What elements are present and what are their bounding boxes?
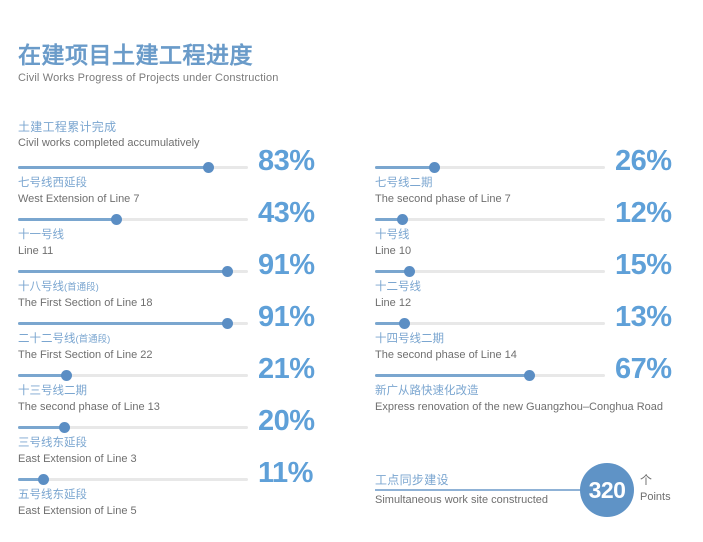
progress-knob[interactable] bbox=[61, 370, 72, 381]
progress-label-cn: 十号线 bbox=[375, 228, 695, 243]
page-title-cn: 在建项目土建工程进度 bbox=[18, 42, 618, 68]
progress-label-cn: 十一号线 bbox=[18, 228, 338, 243]
progress-fill bbox=[18, 426, 64, 429]
progress-slider[interactable] bbox=[375, 266, 605, 278]
progress-percent-value: 26% bbox=[615, 147, 703, 176]
progress-knob[interactable] bbox=[38, 474, 49, 485]
progress-knob[interactable] bbox=[203, 162, 214, 173]
progress-row: 11%五号线东延段East Extension of Line 5 bbox=[18, 470, 348, 522]
points-value: 320 bbox=[589, 479, 626, 502]
progress-percent-value: 67% bbox=[615, 355, 703, 384]
points-label-cn: 工点同步建设 bbox=[375, 471, 449, 488]
progress-percent-value: 20% bbox=[258, 407, 348, 436]
progress-column-left: 83%七号线西延段West Extension of Line 743%十一号线… bbox=[18, 158, 348, 522]
progress-knob[interactable] bbox=[429, 162, 440, 173]
progress-fill bbox=[18, 270, 227, 273]
progress-knob[interactable] bbox=[222, 266, 233, 277]
progress-knob[interactable] bbox=[111, 214, 122, 225]
progress-knob[interactable] bbox=[524, 370, 535, 381]
progress-slider[interactable] bbox=[18, 370, 248, 382]
progress-percent-value: 83% bbox=[258, 147, 348, 176]
progress-percent-value: 15% bbox=[615, 251, 703, 280]
progress-label-cn: 七号线二期 bbox=[375, 176, 695, 191]
progress-fill bbox=[18, 166, 209, 169]
progress-knob[interactable] bbox=[404, 266, 415, 277]
progress-label-cn: 五号线东延段 bbox=[18, 488, 338, 503]
progress-label-cn: 三号线东延段 bbox=[18, 436, 338, 451]
page-title-en: Civil Works Progress of Projects under C… bbox=[18, 72, 618, 84]
progress-percent-value: 91% bbox=[258, 303, 348, 332]
progress-percent-value: 12% bbox=[615, 199, 703, 228]
progress-slider[interactable] bbox=[375, 370, 605, 382]
progress-row: 67%新广从路快速化改造Express renovation of the ne… bbox=[375, 366, 703, 418]
page-header: 在建项目土建工程进度 Civil Works Progress of Proje… bbox=[18, 42, 618, 84]
points-summary: 工点同步建设 Simultaneous work site constructe… bbox=[375, 463, 685, 533]
progress-label-cn: 二十二号线(首通段) bbox=[18, 332, 338, 347]
section-heading-cn: 土建工程累计完成 bbox=[18, 120, 348, 135]
progress-percent-value: 11% bbox=[258, 459, 348, 488]
progress-label-cn-paren: (首通段) bbox=[64, 282, 99, 293]
progress-fill bbox=[18, 322, 227, 325]
progress-slider[interactable] bbox=[18, 422, 248, 434]
progress-labels: 新广从路快速化改造Express renovation of the new G… bbox=[375, 384, 695, 414]
progress-label-cn: 十四号线二期 bbox=[375, 332, 695, 347]
progress-label-en: Express renovation of the new Guangzhou–… bbox=[375, 400, 695, 414]
progress-label-cn: 十八号线(首通段) bbox=[18, 280, 338, 295]
progress-slider[interactable] bbox=[18, 474, 248, 486]
progress-label-cn: 七号线西延段 bbox=[18, 176, 338, 191]
progress-percent-value: 43% bbox=[258, 199, 348, 228]
progress-slider[interactable] bbox=[18, 266, 248, 278]
points-badge: 320 bbox=[580, 463, 634, 517]
progress-slider[interactable] bbox=[375, 214, 605, 226]
progress-fill bbox=[375, 374, 529, 377]
progress-percent-value: 91% bbox=[258, 251, 348, 280]
progress-slider[interactable] bbox=[18, 162, 248, 174]
progress-slider[interactable] bbox=[18, 214, 248, 226]
progress-fill bbox=[18, 218, 117, 221]
progress-knob[interactable] bbox=[222, 318, 233, 329]
progress-slider[interactable] bbox=[375, 318, 605, 330]
progress-column-right: 26%七号线二期The second phase of Line 712%十号线… bbox=[375, 158, 703, 418]
points-label-en: Simultaneous work site constructed bbox=[375, 494, 548, 506]
progress-label-cn: 十二号线 bbox=[375, 280, 695, 295]
progress-label-cn: 新广从路快速化改造 bbox=[375, 384, 695, 399]
points-unit-en: Points bbox=[640, 491, 671, 504]
progress-label-en: East Extension of Line 5 bbox=[18, 504, 338, 518]
progress-slider[interactable] bbox=[18, 318, 248, 330]
progress-label-cn: 十三号线二期 bbox=[18, 384, 338, 399]
progress-label-cn-paren: (首通段) bbox=[76, 334, 111, 345]
progress-knob[interactable] bbox=[397, 214, 408, 225]
points-unit-cn: 个 bbox=[640, 473, 652, 487]
progress-percent-value: 13% bbox=[615, 303, 703, 332]
progress-knob[interactable] bbox=[59, 422, 70, 433]
progress-fill bbox=[18, 374, 66, 377]
progress-track bbox=[18, 478, 248, 481]
progress-fill bbox=[375, 166, 435, 169]
progress-knob[interactable] bbox=[399, 318, 410, 329]
progress-slider[interactable] bbox=[375, 162, 605, 174]
progress-labels: 五号线东延段East Extension of Line 5 bbox=[18, 488, 338, 518]
progress-percent-value: 21% bbox=[258, 355, 348, 384]
progress-track bbox=[375, 218, 605, 221]
